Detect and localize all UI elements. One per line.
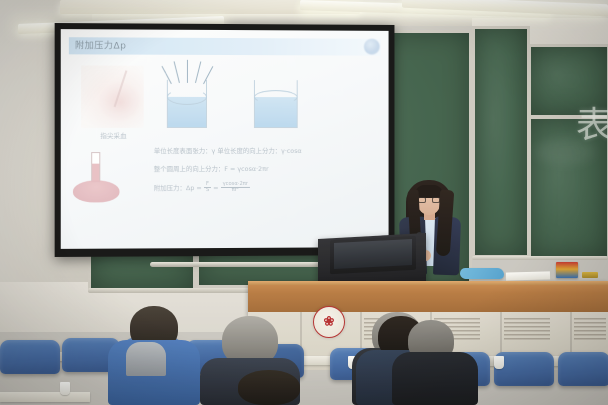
seat <box>558 352 608 386</box>
chalkboard-handwriting: 表 <box>576 108 608 144</box>
seat <box>0 340 60 374</box>
slide-title: 附加压力Δp <box>75 38 126 51</box>
light-glow-right <box>300 0 600 22</box>
fingertip-blood-sampling-photo <box>81 65 144 127</box>
lecture-hall-photo: 表 附加压力Δp 指尖采血 <box>0 0 608 405</box>
fraction-denominator: S <box>204 188 211 193</box>
university-seal-emblem: ❀ <box>313 306 345 338</box>
equation-3-prefix: 附加压力：Δp = <box>154 184 202 192</box>
panel-vent <box>504 318 550 340</box>
chalk-box <box>556 262 578 278</box>
seal-mark: ❀ <box>324 315 335 330</box>
slide-equation-2: 整个圆周上的向上分力：F = γcosα·2πr <box>154 164 269 173</box>
blackboard-eraser <box>582 272 598 278</box>
beaker-wetting-liquid-diagram <box>167 80 207 128</box>
eyeglasses-icon <box>418 197 440 203</box>
equation-3-equals: = <box>213 184 218 192</box>
beaker-liquid-1 <box>168 97 206 127</box>
force-arrow <box>195 61 201 83</box>
beaker-nonwetting-liquid-diagram <box>254 80 298 128</box>
projection-screen: 附加压力Δp 指尖采血 单位长度表面张力：γ <box>55 23 395 257</box>
force-arrow <box>174 61 180 83</box>
chalkboard-right-panel-1 <box>472 26 530 258</box>
counter-edge <box>248 281 608 285</box>
paper-cup <box>494 356 504 369</box>
slide-equation-3: 附加压力：Δp = F S = γcosα·2πr πr² <box>154 182 250 194</box>
chalk-rail-right <box>472 256 608 260</box>
meniscus-convex <box>254 90 298 104</box>
stack-of-papers <box>506 271 550 280</box>
university-logo-icon <box>364 39 380 55</box>
paper-cup <box>60 382 70 395</box>
blue-cloth-bag <box>460 268 504 279</box>
capillary-tube-reservoir <box>73 180 120 202</box>
hood-collar <box>126 342 166 376</box>
beaker-liquid-2 <box>255 97 297 127</box>
monitor-screen <box>334 239 412 269</box>
slide-equation-1: 单位长度表面张力：γ 单位长度的向上分力：γ·cosα <box>154 146 302 155</box>
fraction-denominator: πr² <box>221 188 250 194</box>
force-arrow <box>203 66 213 84</box>
slide-surface: 附加压力Δp 指尖采血 单位长度表面张力：γ <box>61 29 389 249</box>
equation-3-fraction-1: F S <box>204 182 211 194</box>
force-arrow <box>187 60 188 83</box>
panel-vent <box>574 318 606 340</box>
desk-row <box>0 392 90 402</box>
capillary-tube-diagram <box>91 152 100 182</box>
meniscus-concave <box>167 89 207 105</box>
photo-caption: 指尖采血 <box>83 130 144 140</box>
presentation-monitor <box>330 236 416 275</box>
force-arrow <box>162 66 172 84</box>
equation-3-fraction-2: γcosα·2πr πr² <box>221 182 250 194</box>
